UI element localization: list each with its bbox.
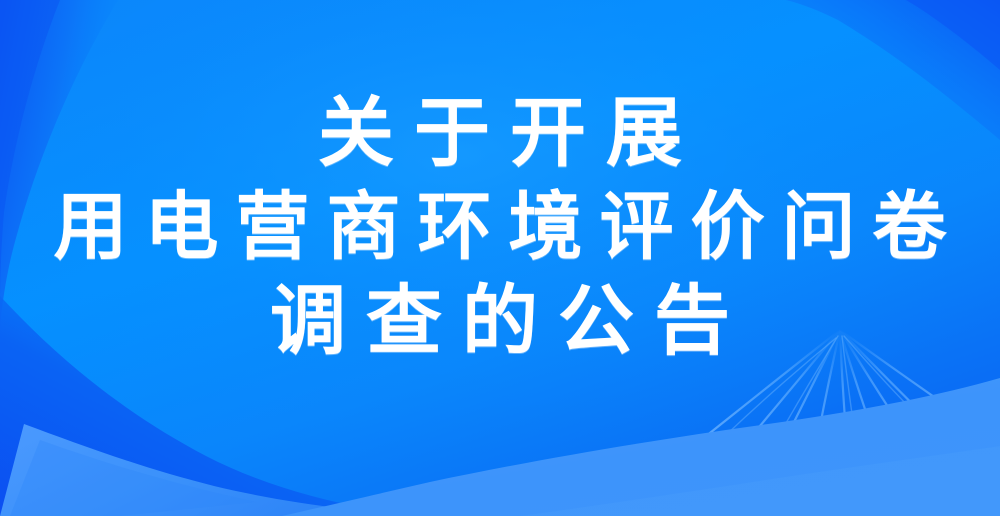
announcement-banner: 关于开展 用电营商环境评价问卷 调查的公告 <box>0 0 1000 516</box>
bottom-right-light-arc-shape <box>0 0 1000 516</box>
